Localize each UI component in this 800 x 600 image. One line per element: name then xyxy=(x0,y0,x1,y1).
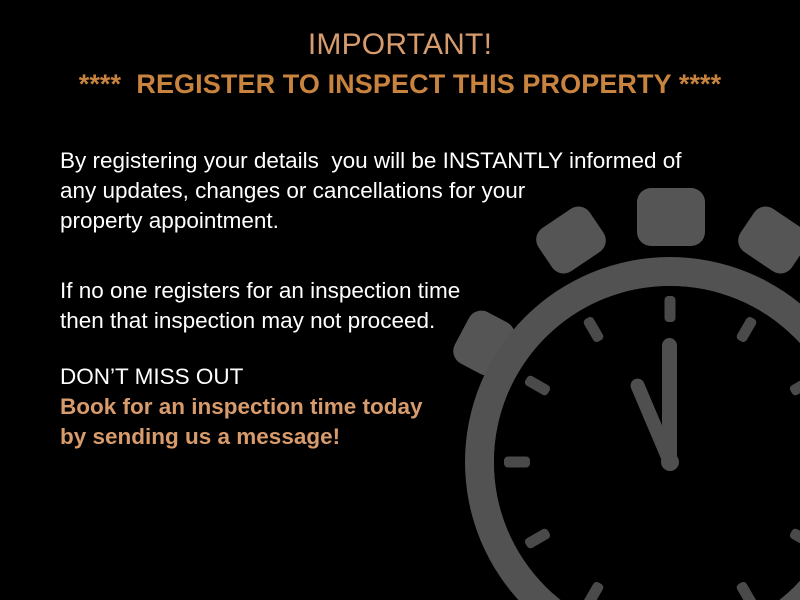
paragraph-call-to-action: DON’T MISS OUT Book for an inspection ti… xyxy=(60,362,720,452)
headline-register-cta: **** REGISTER TO INSPECT THIS PROPERTY *… xyxy=(0,64,800,104)
headline-block: IMPORTANT! **** REGISTER TO INSPECT THIS… xyxy=(0,26,800,104)
notice-line-1: If no one registers for an inspection ti… xyxy=(60,276,720,306)
cta-book-line-2: by sending us a message! xyxy=(60,422,720,452)
cta-dont-miss-out: DON’T MISS OUT xyxy=(60,362,720,392)
notice-line-2: then that inspection may not proceed. xyxy=(60,306,720,336)
paragraph-intro: By registering your details you will be … xyxy=(60,146,720,236)
slide-canvas: IMPORTANT! **** REGISTER TO INSPECT THIS… xyxy=(0,0,800,600)
intro-line-2: any updates, changes or cancellations fo… xyxy=(60,176,720,206)
cta-book-line-1: Book for an inspection time today xyxy=(60,392,720,422)
intro-line-3: property appointment. xyxy=(60,206,720,236)
text-layer: IMPORTANT! **** REGISTER TO INSPECT THIS… xyxy=(0,0,800,600)
intro-line-1: By registering your details you will be … xyxy=(60,146,720,176)
headline-important: IMPORTANT! xyxy=(0,26,800,64)
paragraph-notice: If no one registers for an inspection ti… xyxy=(60,276,720,336)
